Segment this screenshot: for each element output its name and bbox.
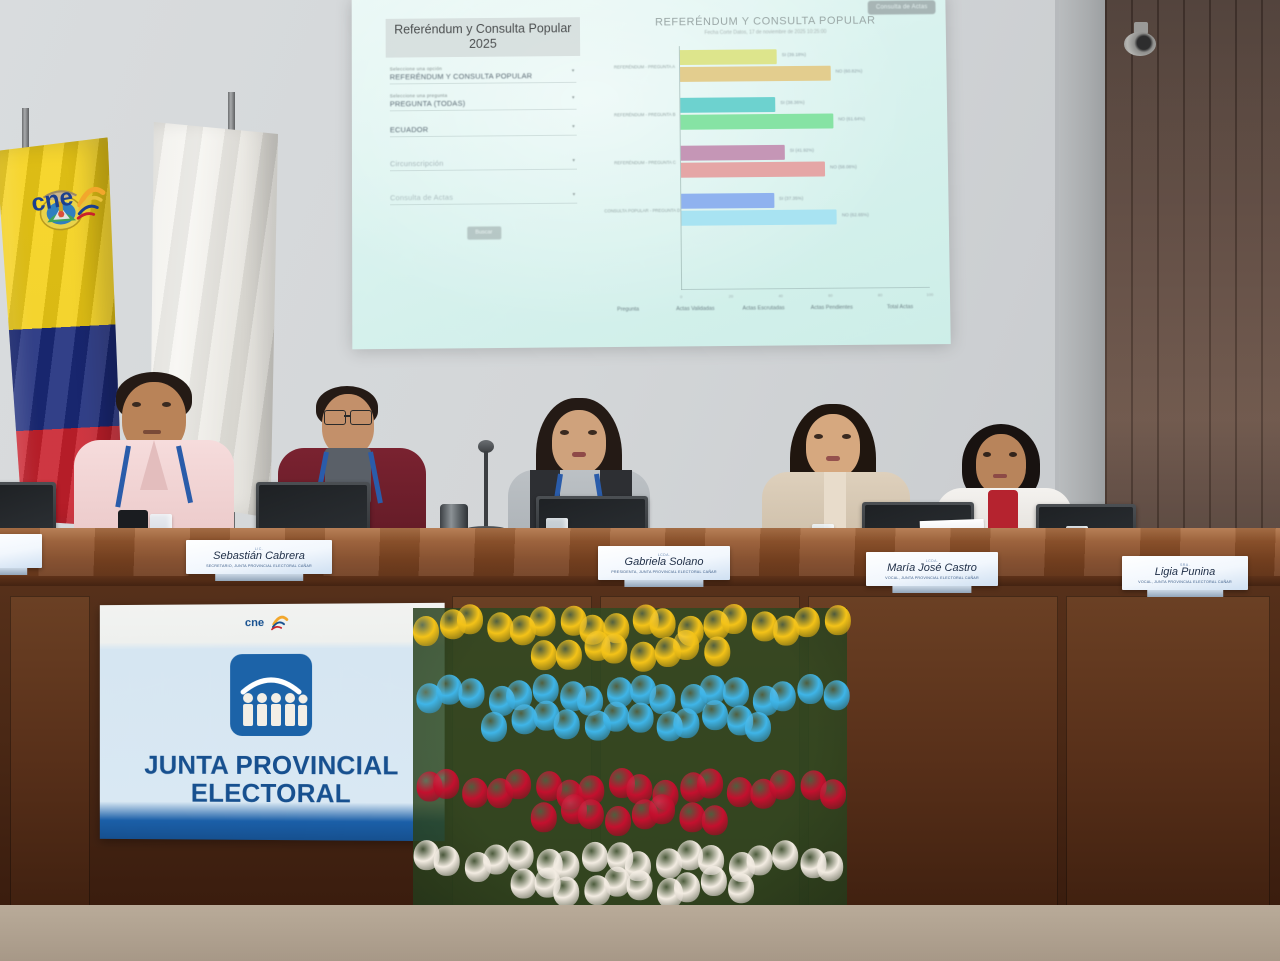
yellow-roses <box>825 605 851 635</box>
conference-room-scene: Consulta de Actas Referéndum y Consulta … <box>0 0 1280 961</box>
nameplate-prefix: LCDA. <box>926 559 939 563</box>
chart-x-tick: 40 <box>778 293 783 298</box>
flower-row-red <box>405 776 855 828</box>
nameplate-prefix: SRA. <box>1180 563 1190 567</box>
form-field-consulta[interactable]: Consulta de Actas ▾ <box>386 191 581 205</box>
blue-roses <box>770 681 796 711</box>
white-lilies <box>483 845 509 875</box>
chart-footer-label: Actas Escrutadas <box>729 305 797 312</box>
nameplate-name: Gabriela Solano <box>625 557 704 568</box>
field-value: ECUADOR <box>390 123 581 134</box>
field-value: Circunscripción <box>390 157 581 168</box>
nameplate-name: Sebastián Cabrera <box>213 551 305 562</box>
projection-screen: Consulta de Actas Referéndum y Consulta … <box>352 0 951 349</box>
chart-bar <box>680 97 775 113</box>
red-roses <box>505 769 531 799</box>
chart-footer-labels: PreguntaActas ValidadasActas EscrutadasA… <box>661 304 934 312</box>
red-roses <box>769 770 795 800</box>
chart-bar-label: NO (58.08%) <box>830 164 857 169</box>
nameplate-sebastian-cabrera: LIC. Sebastián Cabrera SECRETARIO, JUNTA… <box>186 540 332 574</box>
flower-row-yellow <box>405 612 855 664</box>
blue-roses <box>649 684 675 714</box>
chevron-down-icon: ▾ <box>572 67 575 73</box>
yellow-roses <box>531 640 557 670</box>
chart-x-axis <box>681 287 930 290</box>
blue-roses <box>603 702 629 732</box>
chevron-down-icon: ▾ <box>573 191 576 197</box>
red-roses <box>578 799 604 829</box>
nameplate-prefix: LIC. <box>255 547 263 551</box>
yellow-roses <box>457 604 483 634</box>
nameplate-name: Ligia Punina <box>1155 567 1216 578</box>
white-lilies <box>582 842 608 872</box>
chart-bar-label: SI (41.92%) <box>790 148 814 153</box>
white-lilies <box>508 840 534 870</box>
chart-bar <box>681 161 825 177</box>
blue-roses <box>628 703 654 733</box>
chart-footer-label: Actas Validadas <box>661 306 729 313</box>
field-value: REFERÉNDUM Y CONSULTA POPULAR <box>390 70 581 81</box>
form-field-pregunta[interactable]: Seleccione una pregunta PREGUNTA (TODAS)… <box>386 91 581 111</box>
red-roses <box>820 779 846 809</box>
chart-group-label: REFERÉNDUM - PREGUNTA A <box>603 64 675 70</box>
banner-line-1: JUNTA PROVINCIAL <box>100 752 445 780</box>
white-lilies <box>627 870 653 900</box>
nameplate-prefix: LCDA. <box>658 553 671 557</box>
consulta-de-actas-button[interactable]: Consulta de Actas <box>868 0 936 14</box>
white-lilies <box>817 851 843 881</box>
blue-roses <box>459 678 485 708</box>
yellow-roses <box>673 630 699 660</box>
yellow-roses <box>556 640 582 670</box>
chart-footer-label: Total Actas <box>866 304 934 311</box>
white-lilies <box>553 877 579 907</box>
chart-title: REFERÉNDUM Y CONSULTA POPULAR <box>601 14 930 29</box>
buscar-button[interactable]: Buscar <box>467 226 501 239</box>
chart-x-tick: 60 <box>828 293 833 298</box>
red-roses <box>649 794 675 824</box>
yellow-roses <box>704 637 730 667</box>
red-roses <box>531 802 557 832</box>
nameplate-role: SECRETARIO, JUNTA PROVINCIAL ELECTORAL C… <box>206 564 312 568</box>
chart-group-label: REFERÉNDUM - PREGUNTA B <box>604 112 676 118</box>
chevron-down-icon: ▾ <box>572 123 575 129</box>
nameplate-gabriela-solano: LCDA. Gabriela Solano PRESIDENTA, JUNTA … <box>598 546 730 580</box>
banner-line-2: ELECTORAL <box>100 779 445 808</box>
white-lilies <box>511 869 537 899</box>
form-field-circunscripcion[interactable]: Circunscripción ▾ <box>386 157 581 171</box>
chart-bar <box>680 66 831 82</box>
yellow-roses <box>630 642 656 672</box>
red-roses <box>462 778 488 808</box>
cne-logo-flag-icon: cne <box>23 164 115 235</box>
nameplate-role: PRESIDENTA, JUNTA PROVINCIAL ELECTORAL C… <box>611 570 716 574</box>
yellow-roses <box>413 616 439 646</box>
chart-bar <box>681 193 774 209</box>
blue-roses <box>723 677 749 707</box>
red-roses <box>697 769 723 799</box>
blue-roses <box>824 680 850 710</box>
white-lilies <box>772 840 798 870</box>
blue-roses <box>797 674 823 704</box>
red-roses <box>727 777 753 807</box>
laptop-1[interactable] <box>0 482 56 534</box>
yellow-roses <box>721 604 747 634</box>
yellow-roses <box>794 607 820 637</box>
form-field-pais[interactable]: ECUADOR ▾ <box>386 123 581 137</box>
blue-roses <box>702 700 728 730</box>
nameplate-role: VOCAL, JUNTA PROVINCIAL ELECTORAL CAÑAR <box>1138 580 1232 584</box>
nameplate-partial <box>0 534 42 568</box>
svg-text:cne: cne <box>244 617 263 629</box>
results-bar-chart: REFERÉNDUM Y CONSULTA POPULAR Fecha Cort… <box>601 14 934 317</box>
blue-roses <box>533 674 559 704</box>
chart-footer-label: Actas Pendientes <box>798 305 866 312</box>
chart-bar <box>680 49 777 65</box>
chevron-down-icon: ▾ <box>572 157 575 163</box>
blue-roses <box>745 712 771 742</box>
white-lilies <box>674 872 700 902</box>
red-roses <box>605 806 631 836</box>
chart-bar <box>681 145 785 161</box>
chevron-down-icon: ▾ <box>572 94 575 100</box>
white-lilies <box>747 845 773 875</box>
junta-people-icon <box>230 654 312 736</box>
flower-row-white <box>405 848 855 900</box>
red-roses <box>433 769 459 799</box>
chart-plot-area: SI (39.18%)REFERÉNDUM - PREGUNTA ANO (60… <box>679 44 930 290</box>
chart-bar-label: NO (62.65%) <box>842 212 869 217</box>
chart-footer-label: Pregunta <box>617 307 639 313</box>
chart-x-tick: 80 <box>878 292 883 297</box>
chart-x-tick: 0 <box>680 294 682 299</box>
chart-bar-label: SI (39.18%) <box>782 52 806 57</box>
svg-text:cne: cne <box>29 183 75 217</box>
field-value: Consulta de Actas <box>390 191 581 202</box>
chart-group-label: CONSULTA POPULAR - PREGUNTA D <box>604 208 676 214</box>
chart-x-tick: 100 <box>927 292 934 297</box>
field-value: PREGUNTA (TODAS) <box>390 97 581 108</box>
slide-query-form: Referéndum y Consulta Popular 2025 Selec… <box>386 17 582 240</box>
floor <box>0 905 1280 961</box>
chart-bar-label: NO (60.82%) <box>836 68 863 73</box>
nameplate-name: María José Castro <box>887 563 977 574</box>
yellow-roses <box>530 606 556 636</box>
slide-title: Referéndum y Consulta Popular 2025 <box>386 17 581 57</box>
chart-x-tick: 20 <box>729 294 734 299</box>
red-roses <box>702 805 728 835</box>
flower-row-blue <box>405 682 855 734</box>
cne-logo-icon: cne <box>243 610 299 632</box>
chart-bar <box>681 209 837 225</box>
white-lilies <box>701 866 727 896</box>
white-lilies <box>728 873 754 903</box>
white-lilies <box>434 846 460 876</box>
chart-bar-label: NO (61.64%) <box>838 116 865 121</box>
yellow-roses <box>650 608 676 638</box>
security-camera-icon <box>1120 22 1160 52</box>
chart-bar <box>680 113 833 129</box>
form-field-proceso[interactable]: Seleccione una opción REFERÉNDUM Y CONSU… <box>386 64 581 84</box>
floral-arrangement <box>405 608 855 928</box>
yellow-roses <box>601 634 627 664</box>
chart-bar-label: SI (37.35%) <box>779 196 803 201</box>
blue-roses <box>481 712 507 742</box>
nameplate-maria-jose-castro: LCDA. María José Castro VOCAL, JUNTA PRO… <box>866 552 998 586</box>
junta-provincial-electoral-banner: cne JUNTA PROVINCIAL ELECTORAL <box>100 603 445 841</box>
nameplate-ligia-punina: SRA. Ligia Punina VOCAL, JUNTA PROVINCIA… <box>1122 556 1248 590</box>
blue-roses <box>554 709 580 739</box>
chart-group-label: REFERÉNDUM - PREGUNTA C <box>604 160 676 166</box>
blue-roses <box>673 708 699 738</box>
nameplate-role: VOCAL, JUNTA PROVINCIAL ELECTORAL CAÑAR <box>885 576 979 580</box>
chart-subtitle: Fecha Corte Datos, 17 de noviembre de 20… <box>601 28 930 37</box>
banner-text: JUNTA PROVINCIAL ELECTORAL <box>100 752 445 808</box>
chart-bar-label: SI (38.36%) <box>780 100 804 105</box>
